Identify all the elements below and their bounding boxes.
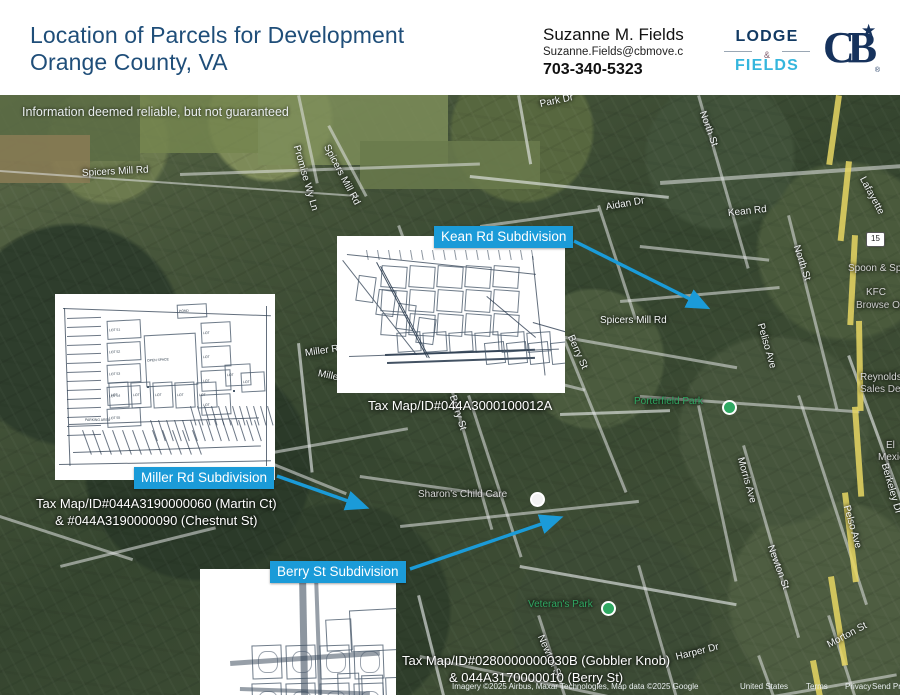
plat-lot-label: LOT 55 (109, 415, 120, 420)
plat-line (73, 445, 261, 453)
lodge-logo-top-word: LODGE (722, 28, 812, 46)
divider-rule-right (782, 51, 810, 52)
plat-line (246, 420, 254, 441)
lodge-logo-divider: & (722, 46, 812, 57)
plat-lot-label: LOT (243, 380, 250, 384)
map-poi-label[interactable]: Browse Our Menu Items (856, 300, 900, 311)
plat-line (366, 250, 369, 260)
plat-line (421, 250, 424, 260)
star-icon: ★ (861, 22, 876, 39)
agent-email[interactable]: Suzanne.Fields@cbmove.c (543, 45, 721, 60)
plat-line (67, 407, 101, 409)
plat-line (509, 250, 512, 260)
plat-line (443, 250, 446, 260)
plat-inset-berry-st[interactable] (200, 569, 396, 695)
plat-lot (408, 265, 435, 289)
plat-lot-label: LOT (133, 393, 140, 397)
map-poi-label[interactable]: Reynolds S (860, 372, 900, 383)
plat-lot (349, 608, 396, 653)
attribution-imagery-text: Imagery ©2025 Airbus, Maxar Technologies… (452, 681, 698, 692)
caption-line: Tax Map/ID#044A3190000060 (Martin Ct) (36, 495, 277, 512)
plat-inset-miller-rd[interactable]: LOT 51LOT 52LOT 53LOT 54LOT 55OPEN SPACE… (55, 294, 275, 480)
plat-contour (258, 651, 278, 673)
map-poi-label[interactable]: El (886, 440, 895, 451)
map-poi-label[interactable]: Veteran's Park (528, 599, 593, 610)
plat-line (67, 344, 101, 346)
plat-line (377, 250, 380, 260)
callout-kean-rd-subdivision[interactable]: Kean Rd Subdivision (434, 226, 573, 248)
plat-lot-label: LOT 52 (109, 349, 120, 354)
plat-line (67, 353, 101, 355)
page-title-line-1: Location of Parcels for Development (30, 22, 404, 49)
map-road-label: Spicers Mill Rd (600, 315, 667, 326)
route-shield-icon: 15 (866, 232, 885, 247)
plat-lot (464, 289, 491, 313)
plat-line (232, 406, 238, 425)
agent-contact-block: Suzanne M. Fields Suzanne.Fields@cbmove.… (543, 25, 733, 79)
plat-line (64, 308, 71, 466)
plat-line (67, 398, 101, 400)
plat-lot (233, 390, 235, 392)
plat-line (67, 425, 101, 427)
plat-lot (436, 289, 463, 313)
map-attribution-bar: Imagery ©2025 Airbus, Maxar Technologies… (0, 681, 900, 692)
caption-line: Tax Map/ID#0280000000030B (Gobbler Knob) (402, 652, 670, 669)
listing-map-page: Location of Parcels for Development Oran… (0, 0, 900, 695)
attribution-link-terms[interactable]: Terms (806, 681, 828, 692)
agent-phone[interactable]: 703-340-5323 (543, 60, 733, 79)
plat-lot-label: LOT (227, 373, 234, 377)
satellite-map[interactable]: Information deemed reliable, but not gua… (0, 95, 900, 695)
map-poi-label[interactable]: KFC (866, 287, 886, 298)
plat-lot (528, 341, 550, 365)
plat-line (487, 250, 490, 260)
plat-line (67, 317, 101, 319)
plat-inset-kean-rd[interactable] (337, 236, 565, 393)
map-poi-label[interactable]: Sales Depar (860, 384, 900, 395)
plat-lot (355, 275, 376, 303)
attribution-link-privacy[interactable]: Privacy (845, 681, 871, 692)
plat-contour (292, 651, 312, 673)
plat-lot-label: LOT (203, 354, 210, 358)
plat-line (465, 250, 468, 260)
plat-line (432, 250, 435, 260)
divider-rule-left (724, 51, 752, 52)
plat-lot-label: LOT 53 (109, 371, 120, 376)
plat-lot (325, 618, 353, 651)
map-poi-marker-icon[interactable] (530, 492, 545, 507)
plat-lot (448, 331, 473, 353)
map-poi-label[interactable]: Sharon's Child Care (418, 489, 507, 500)
plat-contour (360, 651, 380, 673)
plat-line (132, 430, 142, 455)
plat-line (67, 335, 101, 337)
plat-line (63, 308, 271, 316)
plat-line (172, 430, 182, 455)
plat-line (454, 250, 457, 260)
cb-logo-registered-mark: ® (875, 67, 880, 74)
plat-lot-label: LOT (111, 393, 118, 397)
map-poi-marker-icon[interactable] (722, 400, 737, 415)
caption-line: & #044A3190000090 (Chestnut St) (36, 512, 277, 529)
plat-contour (326, 651, 346, 673)
plat-lot-label: LOT (177, 393, 184, 397)
plat-lot (484, 341, 506, 365)
disclaimer-text: Information deemed reliable, but not gua… (22, 105, 289, 119)
plat-line (59, 460, 271, 465)
page-title-line-2: Orange County, VA (30, 49, 404, 76)
plat-line (410, 250, 413, 260)
plat-line (67, 371, 101, 373)
plat-lot (506, 341, 528, 365)
map-poi-marker-icon[interactable] (601, 601, 616, 616)
plat-line (67, 326, 101, 328)
map-poi-label[interactable]: Spoon & Spr (848, 263, 900, 274)
plat-lot (550, 341, 565, 365)
plat-line (67, 380, 101, 382)
caption-line: Tax Map/ID#044A3000100012A (368, 397, 552, 414)
plat-line (67, 389, 101, 391)
plat-lot (464, 265, 491, 289)
plat-lot-label: POND (179, 309, 189, 314)
plat-lot-label: LOT (203, 330, 210, 334)
plat-lot-label: LOT (199, 393, 206, 397)
lodge-logo-ampersand: & (764, 50, 770, 60)
plat-line (476, 250, 479, 260)
map-field-parcel (140, 95, 260, 153)
plat-line (267, 406, 273, 425)
coldwell-banker-logo: CB ★ ® (823, 22, 879, 78)
plat-lot (492, 265, 519, 289)
attribution-link-united-states[interactable]: United States (740, 681, 788, 692)
plat-lot-label: LOT (155, 393, 162, 397)
plat-lot (492, 289, 519, 313)
map-poi-label[interactable]: Porterfield Park (634, 396, 703, 407)
plat-line (158, 420, 166, 441)
page-header: Location of Parcels for Development Oran… (0, 0, 900, 95)
plat-line (520, 250, 523, 260)
plat-lot (436, 265, 463, 289)
caption-miller-rd: Tax Map/ID#044A3190000060 (Martin Ct) & … (36, 495, 277, 529)
plat-line (399, 250, 402, 260)
plat-line (266, 306, 267, 466)
agent-name: Suzanne M. Fields (543, 25, 733, 45)
callout-berry-st-subdivision[interactable]: Berry St Subdivision (270, 561, 406, 583)
plat-line (498, 250, 501, 260)
plat-lot-label: LOT 51 (109, 327, 120, 332)
plat-legend-text: PARKING AREA (85, 418, 110, 422)
plat-line (67, 362, 101, 364)
map-poi-label[interactable]: Mexic (878, 452, 900, 463)
caption-kean-rd: Tax Map/ID#044A3000100012A (368, 397, 552, 414)
attribution-link-send-feedback[interactable]: Send Product Feedback (872, 681, 900, 692)
callout-miller-rd-subdivision[interactable]: Miller Rd Subdivision (134, 467, 274, 489)
lodge-and-fields-logo: LODGE & FIELDS (722, 28, 812, 75)
plat-line (142, 430, 152, 455)
page-title: Location of Parcels for Development Oran… (30, 22, 404, 76)
